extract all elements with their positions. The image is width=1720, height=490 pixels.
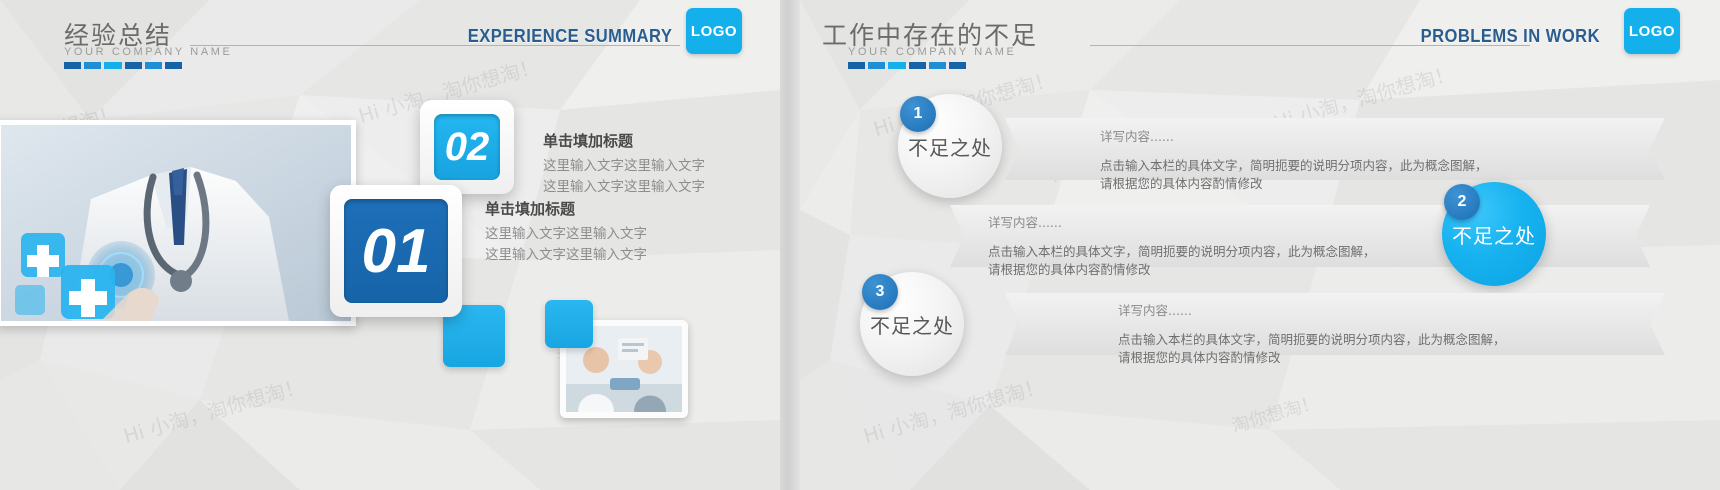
number-tile-01-value: 01 [344,199,448,303]
badge-2: 2 [1444,184,1480,220]
item-01-line2: 这里输入文字这里输入文字 [485,245,647,266]
row-3-body: 详写内容...... 点击输入本栏的具体文字，简明扼要的说明分项内容，此为概念图… [1118,300,1506,367]
row-2-body: 详写内容...... 点击输入本栏的具体文字，简明扼要的说明分项内容，此为概念图… [988,212,1376,279]
item-text-02: 单击填加标题 这里输入文字这里输入文字 这里输入文字这里输入文字 [543,130,705,198]
number-tile-01[interactable]: 01 [330,185,462,317]
company-name: YOUR COMPANY NAME [848,46,1016,58]
slide-experience-summary: 淘你想淘！ Hi 小淘，淘你想淘！ Hi 小淘，淘你想淘！ 淘你想淘！ 经验总结… [0,0,780,490]
row-3-desc-line1: 点击输入本栏的具体文字，简明扼要的说明分项内容，此为概念图解， [1118,331,1506,349]
item-text-01: 单击填加标题 这里输入文字这里输入文字 这里输入文字这里输入文字 [485,198,647,266]
logo-badge[interactable]: LOGO [686,8,742,54]
item-02-line2: 这里输入文字这里输入文字 [543,177,705,198]
row-3-desc-line2: 请根据您的具体内容酌情修改 [1118,349,1506,367]
logo-badge[interactable]: LOGO [1624,8,1680,54]
item-01-title: 单击填加标题 [485,198,647,219]
badge-1: 1 [900,96,936,132]
number-tile-02-value: 02 [434,114,500,180]
right-header: 工作中存在的不足 YOUR COMPANY NAME PROBLEMS IN W… [800,0,1720,62]
slide-deck: 淘你想淘！ Hi 小淘，淘你想淘！ Hi 小淘，淘你想淘！ 淘你想淘！ 经验总结… [0,0,1720,490]
row-1-body: 详写内容...... 点击输入本栏的具体文字，简明扼要的说明分项内容，此为概念图… [1100,126,1488,193]
accent-bars [64,62,182,69]
accent-bars [848,62,966,69]
page-title-en: EXPERIENCE SUMMARY [467,26,672,47]
decor-square-small [545,300,593,348]
item-02-title: 单击填加标题 [543,130,705,151]
row-2-desc-line2: 请根据您的具体内容酌情修改 [988,261,1376,279]
page-title-en: PROBLEMS IN WORK [1421,26,1600,47]
item-01-line1: 这里输入文字这里输入文字 [485,224,647,245]
badge-3: 3 [862,274,898,310]
row-3-lead: 详写内容...... [1118,300,1506,319]
item-02-line1: 这里输入文字这里输入文字 [543,156,705,177]
doctor-photo [0,120,356,326]
number-tile-02[interactable]: 02 [420,100,514,194]
slide-problems-in-work: Hi 小淘，淘你想淘！ Hi 小淘，淘你想淘！ 淘你想淘！ Hi 小淘，淘你想淘… [800,0,1720,490]
company-name: YOUR COMPANY NAME [64,46,232,58]
left-header: 经验总结 YOUR COMPANY NAME EXPERIENCE SUMMAR… [0,0,780,62]
row-2-lead: 详写内容...... [988,212,1376,231]
row-1-desc-line1: 点击输入本栏的具体文字，简明扼要的说明分项内容，此为概念图解， [1100,157,1488,175]
row-1-desc-line2: 请根据您的具体内容酌情修改 [1100,175,1488,193]
slide-gutter [780,0,800,490]
row-2-desc-line1: 点击输入本栏的具体文字，简明扼要的说明分项内容，此为概念图解， [988,243,1376,261]
row-1-lead: 详写内容...... [1100,126,1488,145]
